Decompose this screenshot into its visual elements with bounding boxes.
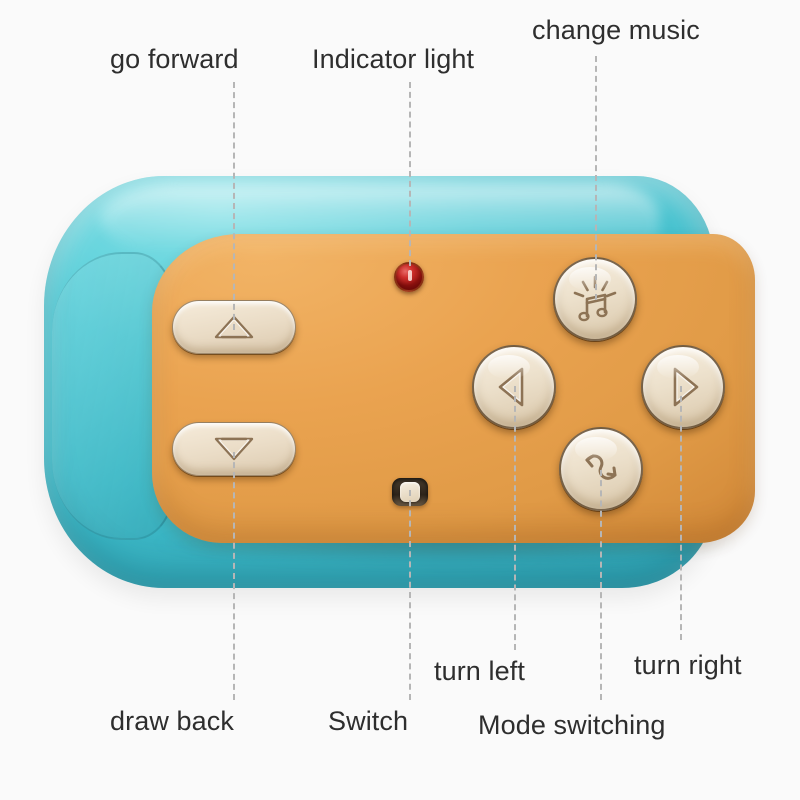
indicator-led — [394, 262, 424, 292]
leader-line-switch — [409, 490, 411, 700]
label-draw-back: draw back — [110, 708, 234, 735]
label-change-music: change music — [532, 17, 700, 44]
leader-line-mode-switching — [600, 470, 602, 700]
leader-line-indicator-light — [409, 82, 411, 266]
label-indicator-light: Indicator light — [312, 46, 474, 73]
leader-line-go-forward — [233, 82, 235, 330]
label-mode-switching: Mode switching — [478, 712, 666, 739]
diagram-canvas: go forward Indicator light change music … — [0, 0, 800, 800]
leader-line-change-music — [595, 56, 597, 300]
leader-line-turn-right — [680, 386, 682, 640]
label-turn-right: turn right — [634, 652, 742, 679]
label-go-forward: go forward — [110, 46, 239, 73]
right-button[interactable] — [641, 345, 725, 429]
label-switch: Switch — [328, 708, 408, 735]
leader-line-turn-left — [514, 386, 516, 650]
label-turn-left: turn left — [434, 658, 525, 685]
triangle-right-icon — [661, 363, 705, 411]
leader-line-draw-back — [233, 452, 235, 700]
